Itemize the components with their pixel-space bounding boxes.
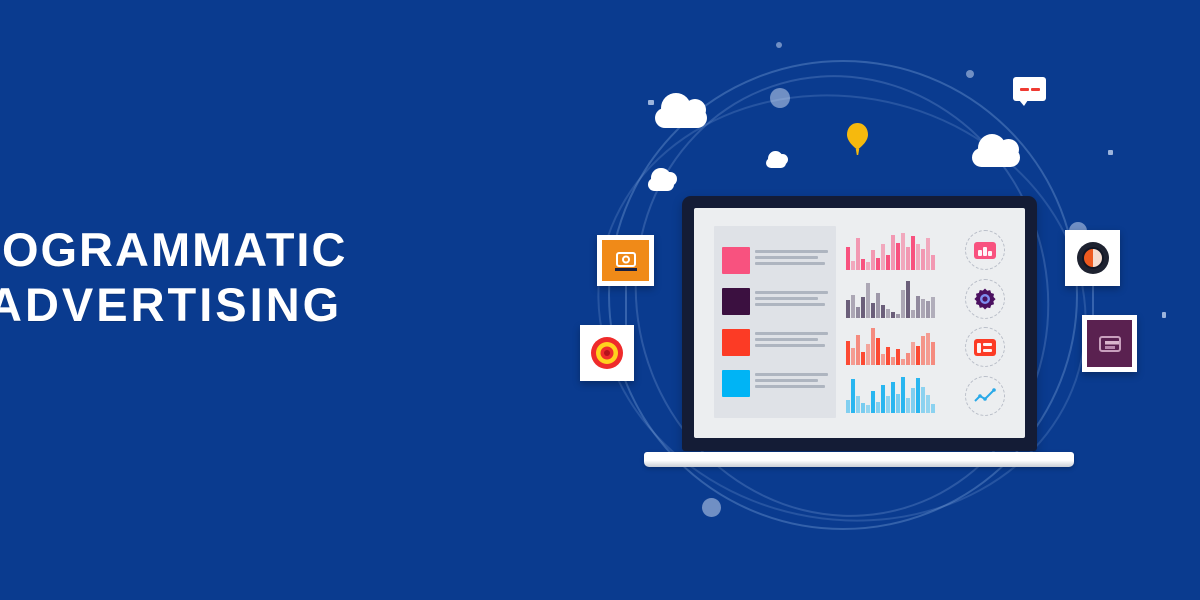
gear-settings-icon[interactable]: [965, 279, 1005, 319]
decor-dot: [770, 88, 790, 108]
headline-line-1: ROGRAMMATIC: [0, 222, 486, 277]
bar: [876, 338, 880, 365]
bar: [926, 301, 930, 318]
cloud-icon: [972, 148, 1020, 167]
bar: [851, 348, 855, 365]
bar: [846, 400, 850, 413]
bar: [871, 303, 875, 318]
bar: [856, 307, 860, 318]
bar: [901, 377, 905, 413]
color-swatch: [722, 329, 750, 356]
bar: [876, 258, 880, 271]
bar: [906, 281, 910, 318]
bar: [921, 249, 925, 270]
bar: [861, 403, 865, 413]
bar: [901, 233, 905, 270]
bar: [921, 387, 925, 413]
bar: [931, 255, 935, 270]
bar: [926, 238, 930, 270]
bar-chart: [846, 281, 953, 318]
decor-dot: [776, 42, 782, 48]
bar: [916, 346, 920, 365]
gallery-card[interactable]: [597, 235, 654, 286]
page-title: ROGRAMMATIC ADVERTISING: [0, 222, 486, 333]
bar: [866, 405, 870, 413]
bar: [901, 359, 905, 366]
cloud-icon: [766, 158, 786, 168]
list-item[interactable]: [722, 370, 828, 397]
bar: [911, 236, 915, 270]
bar: [921, 336, 925, 366]
placeholder-text-lines: [755, 370, 828, 388]
decor-dot: [702, 498, 721, 517]
connector-line: [1092, 286, 1094, 318]
bar: [871, 328, 875, 365]
bar: [891, 235, 895, 271]
bar: [896, 314, 900, 318]
bar: [861, 259, 865, 270]
bar: [921, 299, 925, 318]
bar: [926, 395, 930, 413]
bar: [851, 261, 855, 270]
bar: [871, 250, 875, 270]
bar: [896, 394, 900, 413]
bar: [916, 244, 920, 271]
connector-line: [625, 286, 627, 330]
laptop-screen: [694, 208, 1025, 438]
wallet-card-icon: [1087, 320, 1132, 367]
bar: [891, 382, 895, 413]
bar: [916, 296, 920, 318]
bar: [931, 404, 935, 413]
bar: [911, 342, 915, 366]
bar: [871, 391, 875, 412]
bar: [896, 349, 900, 365]
bar: [851, 379, 855, 412]
list-item[interactable]: [722, 288, 828, 315]
color-swatch: [722, 370, 750, 397]
bar: [886, 255, 890, 271]
decor-dot: [966, 70, 974, 78]
banner-stage: ROGRAMMATIC ADVERTISING: [0, 0, 1200, 600]
bar: [846, 300, 850, 318]
cloud-icon: [648, 178, 674, 191]
bar: [901, 290, 905, 317]
color-swatch: [722, 247, 750, 274]
bar: [856, 396, 860, 413]
bar: [866, 283, 870, 318]
bar: [891, 312, 895, 318]
laptop-device: [682, 196, 1052, 472]
bar: [916, 378, 920, 413]
bar-chart: [846, 328, 953, 365]
camera-lens-icon: [1070, 235, 1115, 281]
bar: [911, 388, 915, 412]
decor-dot: [648, 100, 654, 105]
headline-line-2: ADVERTISING: [0, 277, 486, 332]
bar: [886, 347, 890, 366]
bar: [856, 335, 860, 365]
placeholder-text-lines: [755, 247, 828, 265]
balloon-icon: [845, 122, 870, 156]
bar: [866, 344, 870, 365]
bar: [881, 244, 885, 270]
placeholder-text-lines: [755, 329, 828, 347]
bar: [851, 295, 855, 318]
laptop-bezel: [682, 196, 1037, 451]
bar: [926, 333, 930, 365]
cloud-icon: [655, 108, 707, 128]
bar: [891, 357, 895, 365]
bar: [866, 262, 870, 270]
bar: [881, 305, 885, 318]
bar: [906, 353, 910, 366]
lens-card[interactable]: [1065, 230, 1120, 286]
bar: [861, 352, 865, 365]
bar-chart: [846, 233, 953, 270]
bar: [931, 342, 935, 365]
bar: [906, 247, 910, 271]
bar: [911, 310, 915, 317]
bar: [876, 293, 880, 317]
list-item[interactable]: [722, 247, 828, 274]
dashboard-charts: [836, 222, 957, 424]
list-item[interactable]: [722, 329, 828, 356]
line-trend-icon[interactable]: [965, 376, 1005, 416]
bar: [856, 238, 860, 271]
color-swatch: [722, 288, 750, 315]
bar: [846, 341, 850, 365]
message-bubble-icon: [1013, 77, 1046, 101]
dashboard-list-panel: [714, 226, 836, 418]
bar: [906, 398, 910, 413]
bar: [886, 396, 890, 412]
bullseye-target-icon: [585, 330, 629, 376]
image-chart-icon[interactable]: [965, 230, 1005, 270]
bar: [846, 247, 850, 270]
bar: [896, 243, 900, 270]
bar: [861, 297, 865, 318]
bar-chart: [846, 376, 953, 413]
bar: [931, 297, 935, 318]
photo-frame-icon: [602, 240, 649, 281]
dashboard-icon-column: [957, 222, 1013, 424]
bar: [876, 402, 880, 413]
target-card[interactable]: [580, 325, 634, 381]
placeholder-text-lines: [755, 288, 828, 306]
laptop-base: [644, 452, 1074, 467]
bar: [881, 354, 885, 365]
list-report-icon[interactable]: [965, 327, 1005, 367]
bar: [881, 385, 885, 412]
bar: [886, 309, 890, 318]
decor-dot: [1108, 150, 1113, 155]
wallet-card[interactable]: [1082, 315, 1137, 372]
decor-dot: [1162, 312, 1166, 318]
